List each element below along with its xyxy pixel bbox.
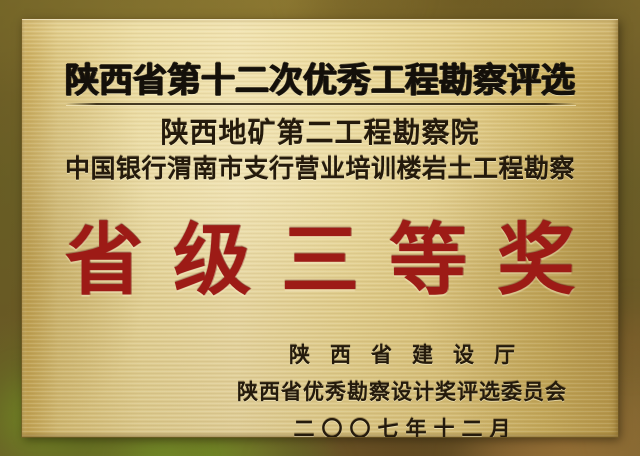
plaque-content: 陕西省第十二次优秀工程勘察评选 陕西地矿第二工程勘察院 中国银行渭南市支行营业培…: [22, 19, 618, 437]
title-underline-rule: [66, 103, 576, 105]
plaque-title: 陕西省第十二次优秀工程勘察评选: [22, 53, 618, 102]
plaque-project-name: 中国银行渭南市支行营业培训楼岩土工程勘察: [22, 149, 618, 185]
plaque-photo: 陕西省第十二次优秀工程勘察评选 陕西地矿第二工程勘察院 中国银行渭南市支行营业培…: [0, 0, 640, 456]
plaque-review-committee: 陕西省优秀勘察设计奖评选委员会: [223, 376, 567, 406]
award-plaque: 陕西省第十二次优秀工程勘察评选 陕西地矿第二工程勘察院 中国银行渭南市支行营业培…: [22, 19, 618, 437]
plaque-issue-date: 二〇〇七年十二月: [223, 413, 567, 437]
plaque-organization: 陕西地矿第二工程勘察院: [22, 111, 618, 151]
plaque-footer: 陕西省建设厅 陕西省优秀勘察设计奖评选委员会 二〇〇七年十二月: [22, 339, 618, 437]
plaque-issuing-authority: 陕西省建设厅: [223, 339, 567, 369]
plaque-award-grade: 省级三等奖: [22, 215, 618, 307]
plaque-footer-block: 陕西省建设厅 陕西省优秀勘察设计奖评选委员会 二〇〇七年十二月: [223, 339, 567, 437]
